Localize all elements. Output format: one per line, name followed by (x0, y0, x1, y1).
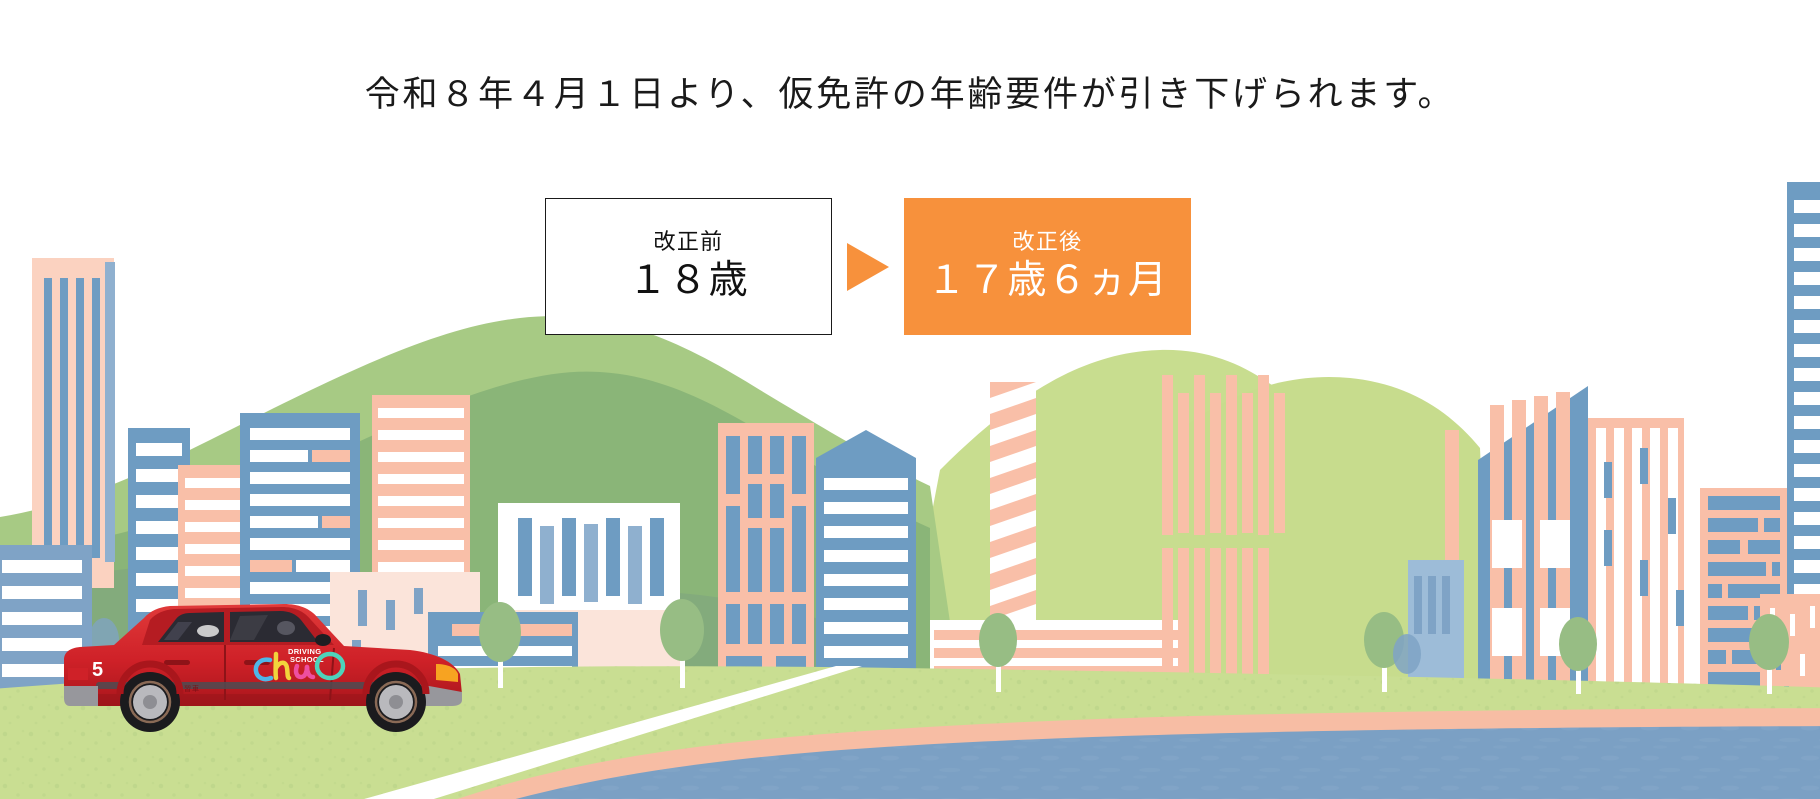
poster-canvas: 5 教習車 DRIVING SCHOOL (0, 0, 1820, 799)
before-revision-box: 改正前 １８歳 (545, 198, 832, 335)
after-revision-value: １７歳６ヵ月 (904, 261, 1191, 302)
car-front-wheel (366, 672, 426, 732)
car-rear-wheel (120, 672, 180, 732)
age-requirement-comparison: 改正前 １８歳 改正後 １７歳６ヵ月 (545, 198, 1191, 335)
driving-school-car: 5 教習車 DRIVING SCHOOL (58, 598, 468, 740)
after-revision-label: 改正後 (904, 231, 1191, 253)
page-title: 令和８年４月１日より、仮免許の年齢要件が引き下げられます。 (0, 66, 1820, 117)
before-revision-value: １８歳 (546, 261, 831, 302)
before-revision-label: 改正前 (546, 231, 831, 253)
right-triangle-arrow-icon (832, 241, 904, 293)
car-number-label: 5 (92, 659, 103, 681)
after-revision-box: 改正後 １７歳６ヵ月 (904, 198, 1191, 335)
